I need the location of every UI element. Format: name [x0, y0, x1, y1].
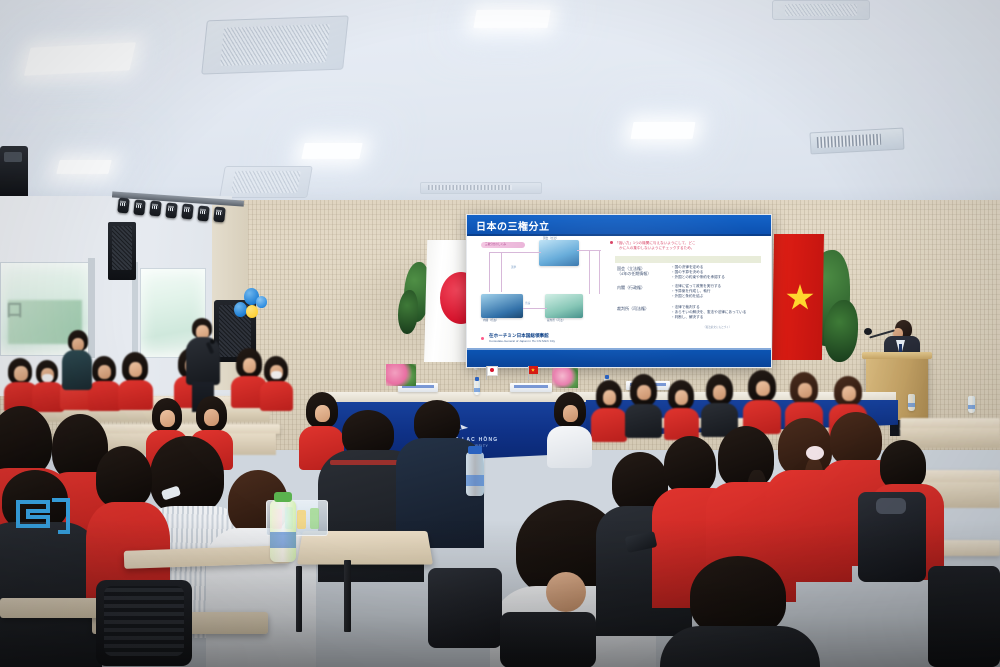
ceiling-light-panel	[24, 42, 136, 75]
desk-flag-vietnam	[526, 366, 538, 380]
bullet-dot-icon	[610, 241, 613, 244]
stage-light-icon	[165, 202, 178, 218]
wall-speaker	[108, 222, 136, 280]
diagram-node-photo	[539, 240, 579, 266]
stage-light-icon	[181, 203, 194, 219]
ceiling-light-panel	[301, 143, 362, 159]
diagram-arrow	[589, 250, 590, 294]
desk-flag-japan	[484, 366, 496, 380]
slide-footer-bar	[467, 348, 771, 367]
diagram-arrow	[489, 252, 541, 253]
diagram-inner-note: 世論	[525, 302, 530, 306]
ac-vent	[219, 166, 313, 198]
slide-tab-text: 三権分立のしくみ	[485, 243, 506, 247]
shirt-graphic-print	[12, 488, 74, 544]
diagram-arrow	[489, 252, 490, 292]
branch-bullet: ・国の予算を決める	[671, 270, 703, 275]
podium-top	[862, 352, 932, 359]
chair	[928, 566, 1000, 667]
stage-light-icon	[117, 197, 130, 213]
water-bottle	[270, 500, 296, 562]
window-signage-text: 口	[6, 296, 26, 321]
diagram-node-photo	[545, 294, 583, 318]
branch-sublabel-legislative: （4年の任期情報）	[617, 271, 651, 276]
slide-footer-accent	[467, 348, 771, 350]
water-bottle	[908, 394, 915, 411]
branch-bullet: ・国の決律を定める	[671, 265, 703, 270]
branch-label-executive: 内閣（行政権）	[617, 285, 645, 290]
lecture-hall-photo: 口 日本の三権分立 三権分立のしくみ 国会（立法）	[0, 0, 1000, 667]
ceiling-light-panel	[631, 122, 696, 139]
diagram-arrow	[577, 250, 601, 251]
nameplate	[510, 383, 552, 392]
water-bottle	[466, 452, 484, 496]
slide-footnote: （憲法前文にもとづく）	[703, 326, 731, 330]
bottle-cap	[274, 492, 292, 502]
projection-screen: 日本の三権分立 三権分立のしくみ 国会（立法） 内閣（行政） 裁判所（司法） 選…	[466, 214, 772, 368]
bottle-cap	[605, 375, 609, 379]
ceiling-light-panel	[473, 10, 550, 28]
branch-bullet: ・外国との約束や条約を承認する	[671, 275, 725, 280]
slide-red-note-line2: かに人の集中しないようにチェックするため。	[619, 246, 694, 251]
ceiling-light-panel	[56, 160, 111, 174]
water-bottle	[968, 396, 975, 413]
balloon-decoration	[246, 305, 258, 318]
stage-light-icon	[133, 199, 146, 215]
slide-footer-en: Consulate-General of Japan in Ho Chi Min…	[489, 339, 555, 343]
microphone-icon	[864, 328, 872, 335]
diagram-node-label: 国会（立法）	[543, 237, 559, 241]
flower-arrangement	[386, 364, 416, 386]
ac-vent	[420, 182, 542, 194]
branch-bullet: ・法律に従って政策を実行する	[671, 284, 721, 289]
desk-leg	[296, 566, 302, 632]
branch-bullet: ・外国と条約を結ぶ	[671, 294, 703, 299]
water-bottle	[474, 380, 480, 395]
diagram-node-photo	[481, 294, 523, 318]
slide-title: 日本の三権分立	[476, 218, 550, 233]
branch-bullet: ・予算案を作成し、執行	[671, 289, 711, 294]
hair-scrunchie	[806, 446, 824, 460]
backpack	[428, 568, 502, 648]
slide-olive-divider	[615, 256, 761, 263]
branch-bullet: ・法律で裁判する	[671, 305, 700, 310]
diagram-node-label: 内閣（行政）	[483, 319, 499, 323]
diagram-arrow	[599, 250, 600, 294]
ac-vent	[201, 15, 349, 74]
branch-bullet: ・判断し、解決する	[671, 315, 703, 320]
stage-light-icon	[149, 200, 162, 216]
window-frame	[88, 258, 95, 358]
branch-bullet: ・あらそいの解決を、憲法や法律にあっている	[671, 310, 746, 315]
diagram-inner-note: 選挙	[511, 266, 516, 270]
desk-leg	[344, 560, 351, 632]
stage-light-icon	[197, 205, 210, 221]
flower-arrangement	[552, 368, 578, 388]
bottle-cap	[468, 446, 482, 454]
balloon-decoration	[234, 302, 247, 317]
audience-neck	[546, 572, 586, 612]
bottle-cap	[475, 377, 479, 381]
stage-light-icon	[213, 206, 226, 222]
slide-body: 三権分立のしくみ 国会（立法） 内閣（行政） 裁判所（司法） 選挙 世論 「強い…	[467, 236, 771, 348]
diagram-node-label: 裁判所（司法）	[547, 319, 565, 323]
diagram-arrow	[501, 252, 502, 292]
ac-vent	[772, 0, 870, 20]
slide-header: 日本の三権分立	[467, 215, 771, 236]
bullet-dot-icon	[481, 337, 484, 340]
foreground-desk	[0, 598, 110, 618]
diagram-arrow	[523, 308, 547, 309]
chair-backrest	[104, 586, 184, 656]
backpack-strap	[876, 498, 906, 514]
chair	[500, 612, 596, 667]
branch-label-judicial: 裁判所（司法権）	[617, 306, 649, 311]
balloon-decoration	[256, 296, 267, 308]
ceiling-camera-icon	[0, 146, 28, 200]
